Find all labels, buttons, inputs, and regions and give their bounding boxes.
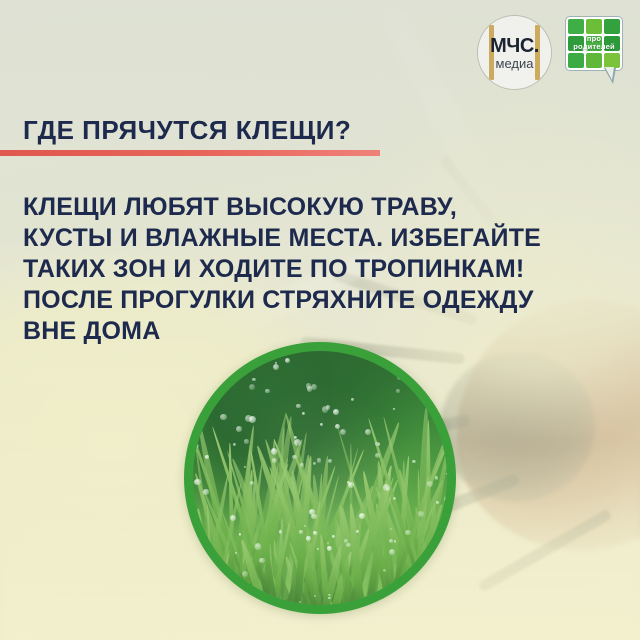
dew-drop: [244, 439, 249, 444]
dew-drop: [220, 368, 223, 371]
dew-drop: [333, 409, 339, 415]
logo-grid-cell: [568, 53, 584, 68]
dew-drop: [397, 374, 403, 380]
dew-drop: [446, 415, 448, 417]
dew-drop: [435, 476, 439, 480]
logo-grid-cell: [586, 53, 602, 68]
body-line: ПОСЛЕ ПРОГУЛКИ СТРЯХНИТЕ ОДЕЖДУ: [23, 285, 623, 316]
dew-drop: [265, 389, 270, 394]
dew-drop: [306, 383, 311, 388]
grass-photo-inner: [193, 351, 447, 605]
pro-roditelei-label: про родителей: [569, 35, 619, 50]
dew-drop: [300, 463, 303, 466]
logo-group: МЧС. медиа про родителей: [478, 16, 626, 89]
dew-drop: [340, 429, 346, 435]
dew-drop: [230, 515, 236, 521]
dew-drop: [249, 416, 256, 423]
dew-drop: [259, 558, 264, 563]
title-underline-rule: [0, 150, 380, 156]
mchs-media-logo[interactable]: МЧС. медиа: [478, 16, 551, 89]
dew-drop: [236, 426, 242, 432]
dew-drop: [299, 601, 301, 603]
pro-roditelei-logo[interactable]: про родителей: [565, 16, 626, 86]
dew-drop: [245, 354, 249, 358]
dew-drop: [427, 481, 433, 487]
dew-drop: [242, 604, 247, 605]
dew-drop: [424, 562, 431, 569]
dew-drop: [255, 543, 262, 550]
dew-drop: [220, 414, 226, 420]
body-line: КЛЕЩИ ЛЮБЯТ ВЫСОКУЮ ТРАВУ,: [23, 192, 623, 223]
pro-roditelei-line2: родителей: [573, 42, 615, 51]
dew-drop: [405, 530, 411, 536]
dew-drop: [202, 384, 206, 388]
page-title: ГДЕ ПРЯЧУТСЯ КЛЕЩИ?: [23, 117, 351, 143]
dew-drop: [205, 455, 209, 459]
dew-drop: [332, 535, 334, 537]
dew-drop: [233, 443, 236, 446]
dew-drop: [419, 376, 425, 382]
dew-drop: [314, 595, 316, 597]
dew-drop: [383, 569, 386, 572]
dew-drop: [313, 531, 317, 535]
dew-drop: [272, 458, 277, 463]
dew-drop: [313, 462, 316, 465]
dew-drop: [433, 374, 440, 381]
poster-root: МЧС. медиа про родителей ГДЕ ПРЯЧУТСЯ КЛ…: [0, 0, 640, 640]
mchs-logo-subtitle: медиа: [496, 57, 534, 70]
dew-drop: [250, 481, 254, 485]
dew-drop: [306, 536, 311, 541]
dew-drop: [412, 460, 415, 463]
dew-drop: [311, 514, 316, 519]
dew-drop: [431, 557, 434, 560]
dew-drop: [226, 577, 230, 581]
dew-drop: [195, 444, 199, 448]
dew-drop: [304, 525, 306, 527]
dew-drop: [423, 391, 429, 397]
dew-drop: [445, 423, 447, 429]
grass-photo: [184, 342, 456, 614]
dew-drop: [302, 412, 305, 415]
logo-grid-cell: [604, 19, 620, 34]
logo-grid-cell: [568, 19, 584, 34]
dew-drop: [444, 496, 447, 502]
dew-drop: [346, 543, 351, 548]
mchs-logo-word: МЧС.: [490, 36, 539, 56]
body-copy: КЛЕЩИ ЛЮБЯТ ВЫСОКУЮ ТРАВУ,КУСТЫ И ВЛАЖНЫ…: [23, 192, 623, 347]
speech-bubble-tail-inner-icon: [605, 67, 614, 80]
dew-drop: [328, 597, 330, 599]
dew-drop: [196, 367, 198, 369]
logo-grid-cell: [586, 19, 602, 34]
dew-drop: [383, 484, 390, 491]
logo-grid-cell: [604, 53, 620, 68]
dew-drop: [203, 489, 208, 494]
dew-drop: [446, 369, 447, 374]
dew-drop: [327, 542, 329, 544]
dew-drop: [299, 530, 302, 533]
dew-drop: [271, 448, 277, 454]
dew-drop: [326, 405, 330, 409]
dew-drop: [420, 358, 427, 365]
dew-drop: [347, 481, 350, 484]
body-line: КУСТЫ И ВЛАЖНЫЕ МЕСТА. ИЗБЕГАЙТЕ: [23, 223, 623, 254]
dew-drop: [410, 378, 415, 383]
dew-drop: [376, 351, 382, 357]
dew-drop: [207, 583, 211, 587]
dew-drop: [394, 540, 397, 543]
body-line: ТАКИХ ЗОН И ХОДИТЕ ПО ТРОПИНКАМ!: [23, 254, 623, 285]
dew-drop: [273, 364, 279, 370]
dew-drop: [252, 378, 255, 381]
dew-drop: [436, 501, 439, 504]
